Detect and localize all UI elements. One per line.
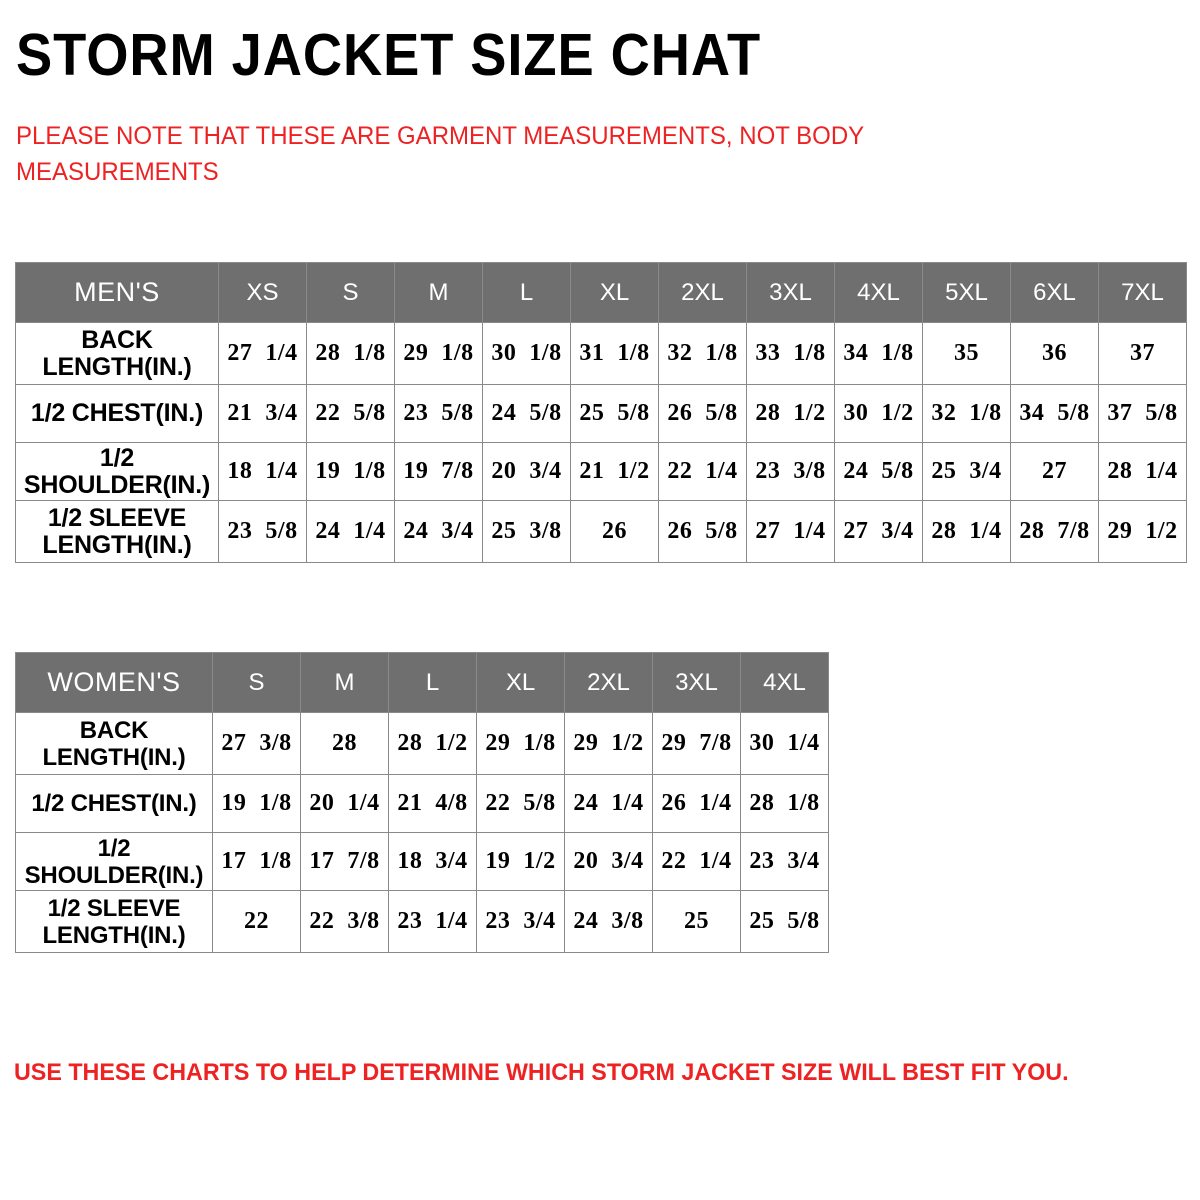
measurement-cell: 34 1/8 [835,323,923,385]
measurement-cell: 29 1/2 [565,713,653,775]
measurement-cell: 26 [571,501,659,563]
measurement-cell: 22 5/8 [307,385,395,443]
measurement-cell: 27 1/4 [747,501,835,563]
womens-column-header-l: L [389,653,477,713]
measurement-cell: 21 1/2 [571,443,659,501]
mens-column-header-s: S [307,263,395,323]
measurement-cell: 29 7/8 [653,713,741,775]
measurement-cell: 27 3/8 [213,713,301,775]
measurement-cell: 28 1/2 [747,385,835,443]
womens-column-header-s: S [213,653,301,713]
measurement-cell: 29 1/8 [395,323,483,385]
measurement-cell: 17 1/8 [213,833,301,891]
womens-corner-label: WOMEN'S [16,653,213,713]
measurement-cell: 17 7/8 [301,833,389,891]
mens-column-header-xl: XL [571,263,659,323]
measurement-cell: 21 4/8 [389,775,477,833]
measurement-cell: 31 1/8 [571,323,659,385]
measurement-cell: 30 1/2 [835,385,923,443]
measurement-cell: 26 1/4 [653,775,741,833]
measurement-cell: 33 1/8 [747,323,835,385]
measurement-cell: 26 5/8 [659,385,747,443]
row-label: 1/2 CHEST(IN.) [16,385,219,443]
womens-table-head: WOMEN'SSMLXL2XL3XL4XL [16,653,829,713]
row-label: 1/2 SLEEVE LENGTH(IN.) [16,501,219,563]
mens-column-header-6xl: 6XL [1011,263,1099,323]
measurement-cell: 32 1/8 [659,323,747,385]
mens-column-header-7xl: 7XL [1099,263,1187,323]
chart-usage-note: USE THESE CHARTS TO HELP DETERMINE WHICH… [14,1058,1159,1088]
mens-corner-label: MEN'S [16,263,219,323]
mens-column-header-3xl: 3XL [747,263,835,323]
mens-column-header-m: M [395,263,483,323]
table-row: 1/2 SHOULDER(IN.)18 1/419 1/819 7/820 3/… [16,443,1187,501]
womens-column-header-4xl: 4XL [741,653,829,713]
measurement-cell: 28 1/4 [1099,443,1187,501]
measurement-cell: 30 1/4 [741,713,829,775]
row-label: BACK LENGTH(IN.) [16,323,219,385]
measurement-cell: 23 5/8 [219,501,307,563]
measurement-cell: 37 [1099,323,1187,385]
measurement-cell: 28 1/8 [307,323,395,385]
mens-column-header-4xl: 4XL [835,263,923,323]
measurement-cell: 18 3/4 [389,833,477,891]
table-row: 1/2 CHEST(IN.)21 3/422 5/823 5/824 5/825… [16,385,1187,443]
measurement-cell: 26 5/8 [659,501,747,563]
measurement-cell: 22 [213,891,301,953]
measurement-cell: 23 3/8 [747,443,835,501]
womens-table-body: BACK LENGTH(IN.)27 3/82828 1/229 1/829 1… [16,713,829,953]
womens-header-row: WOMEN'SSMLXL2XL3XL4XL [16,653,829,713]
measurement-cell: 22 1/4 [653,833,741,891]
measurement-cell: 23 3/4 [741,833,829,891]
size-chart-page: STORM JACKET SIZE CHAT PLEASE NOTE THAT … [0,0,1200,1200]
measurement-cell: 20 1/4 [301,775,389,833]
mens-column-header-l: L [483,263,571,323]
measurement-cell: 21 3/4 [219,385,307,443]
measurement-cell: 28 7/8 [1011,501,1099,563]
measurement-cell: 27 1/4 [219,323,307,385]
mens-table-head: MEN'SXSSMLXL2XL3XL4XL5XL6XL7XL [16,263,1187,323]
measurement-cell: 29 1/8 [477,713,565,775]
measurement-cell: 25 3/4 [923,443,1011,501]
table-row: 1/2 CHEST(IN.)19 1/820 1/421 4/822 5/824… [16,775,829,833]
measurement-cell: 24 3/4 [395,501,483,563]
measurement-cell: 22 1/4 [659,443,747,501]
measurement-cell: 19 1/8 [213,775,301,833]
measurement-cell: 28 1/4 [923,501,1011,563]
table-row: 1/2 SLEEVE LENGTH(IN.)2222 3/823 1/423 3… [16,891,829,953]
measurement-cell: 23 1/4 [389,891,477,953]
row-label: 1/2 SHOULDER(IN.) [16,443,219,501]
measurement-cell: 24 5/8 [483,385,571,443]
mens-size-table: MEN'SXSSMLXL2XL3XL4XL5XL6XL7XL BACK LENG… [15,262,1187,563]
measurement-cell: 28 1/2 [389,713,477,775]
row-label: 1/2 SHOULDER(IN.) [16,833,213,891]
measurement-cell: 24 1/4 [565,775,653,833]
measurement-cell: 24 3/8 [565,891,653,953]
mens-header-row: MEN'SXSSMLXL2XL3XL4XL5XL6XL7XL [16,263,1187,323]
measurement-cell: 20 3/4 [565,833,653,891]
garment-measurement-note: PLEASE NOTE THAT THESE ARE GARMENT MEASU… [16,118,938,190]
measurement-cell: 25 [653,891,741,953]
measurement-cell: 32 1/8 [923,385,1011,443]
womens-column-header-2xl: 2XL [565,653,653,713]
measurement-cell: 25 5/8 [571,385,659,443]
measurement-cell: 24 1/4 [307,501,395,563]
measurement-cell: 37 5/8 [1099,385,1187,443]
measurement-cell: 23 3/4 [477,891,565,953]
measurement-cell: 36 [1011,323,1099,385]
measurement-cell: 28 [301,713,389,775]
row-label: 1/2 CHEST(IN.) [16,775,213,833]
measurement-cell: 24 5/8 [835,443,923,501]
womens-column-header-m: M [301,653,389,713]
measurement-cell: 19 1/2 [477,833,565,891]
measurement-cell: 34 5/8 [1011,385,1099,443]
measurement-cell: 27 [1011,443,1099,501]
measurement-cell: 30 1/8 [483,323,571,385]
table-row: BACK LENGTH(IN.)27 3/82828 1/229 1/829 1… [16,713,829,775]
mens-column-header-2xl: 2XL [659,263,747,323]
measurement-cell: 28 1/8 [741,775,829,833]
mens-table-body: BACK LENGTH(IN.)27 1/428 1/829 1/830 1/8… [16,323,1187,563]
table-row: 1/2 SLEEVE LENGTH(IN.)23 5/824 1/424 3/4… [16,501,1187,563]
measurement-cell: 29 1/2 [1099,501,1187,563]
measurement-cell: 35 [923,323,1011,385]
measurement-cell: 25 3/8 [483,501,571,563]
row-label: BACK LENGTH(IN.) [16,713,213,775]
page-title: STORM JACKET SIZE CHAT [16,24,1083,86]
row-label: 1/2 SLEEVE LENGTH(IN.) [16,891,213,953]
womens-size-table: WOMEN'SSMLXL2XL3XL4XL BACK LENGTH(IN.)27… [15,652,829,953]
womens-column-header-3xl: 3XL [653,653,741,713]
measurement-cell: 27 3/4 [835,501,923,563]
mens-column-header-5xl: 5XL [923,263,1011,323]
measurement-cell: 25 5/8 [741,891,829,953]
womens-column-header-xl: XL [477,653,565,713]
table-row: BACK LENGTH(IN.)27 1/428 1/829 1/830 1/8… [16,323,1187,385]
measurement-cell: 23 5/8 [395,385,483,443]
measurement-cell: 18 1/4 [219,443,307,501]
measurement-cell: 22 5/8 [477,775,565,833]
mens-column-header-xs: XS [219,263,307,323]
measurement-cell: 22 3/8 [301,891,389,953]
measurement-cell: 19 1/8 [307,443,395,501]
table-row: 1/2 SHOULDER(IN.)17 1/817 7/818 3/419 1/… [16,833,829,891]
measurement-cell: 20 3/4 [483,443,571,501]
measurement-cell: 19 7/8 [395,443,483,501]
